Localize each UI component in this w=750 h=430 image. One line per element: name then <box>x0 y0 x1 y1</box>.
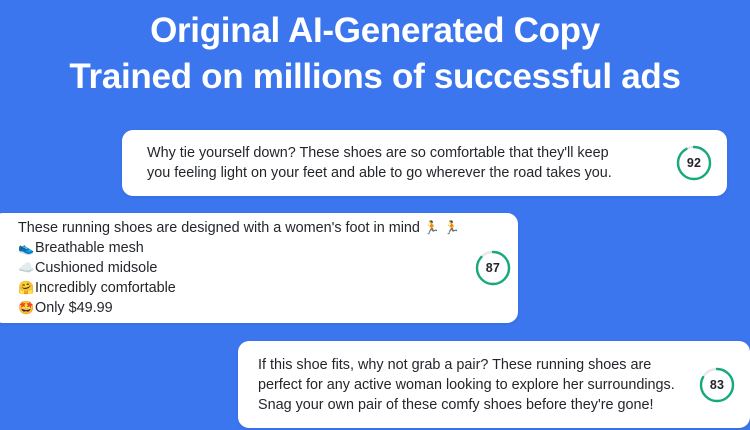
feature-bullet-label: Breathable mesh <box>35 240 144 256</box>
ad-copy-line: perfect for any active woman looking to … <box>258 375 684 395</box>
score-value: 87 <box>486 261 500 275</box>
feature-bullet-label: Cushioned midsole <box>35 260 157 276</box>
feature-bullet-label: Incredibly comfortable <box>35 280 176 296</box>
running-person-emoji: 🏃 🏃 <box>424 220 460 235</box>
feature-bullet: ☁️Cushioned midsole <box>18 258 460 278</box>
feature-bullet: 👟Breathable mesh <box>18 238 460 258</box>
page-title: Original AI-Generated Copy Trained on mi… <box>0 8 750 100</box>
ad-copy-headline: These running shoes are designed with a … <box>18 218 460 238</box>
hugging-face-emoji: 🤗 <box>18 278 35 298</box>
ad-copy-line: If this shoe fits, why not grab a pair? … <box>258 355 684 375</box>
score-badge: 92 <box>675 144 713 182</box>
feature-bullet-label: Only $49.99 <box>35 300 113 316</box>
score-value: 83 <box>710 378 724 392</box>
ad-copy-line: Snag your own pair of these comfy shoes … <box>258 395 684 415</box>
ad-copy-text: If this shoe fits, why not grab a pair? … <box>258 355 684 415</box>
star-struck-emoji: 🤩 <box>18 298 35 318</box>
feature-bullet: 🤩Only $49.99 <box>18 298 460 318</box>
running-shoe-emoji: 👟 <box>18 238 35 258</box>
score-value: 92 <box>687 156 701 170</box>
page-title-line-2: Trained on millions of successful ads <box>0 54 750 100</box>
score-badge: 83 <box>698 366 736 404</box>
ad-copy-card[interactable]: Why tie yourself down? These shoes are s… <box>122 130 727 196</box>
cloud-emoji: ☁️ <box>18 258 35 278</box>
ad-copy-line: Why tie yourself down? These shoes are s… <box>147 143 661 163</box>
score-badge: 87 <box>474 249 512 287</box>
ad-copy-headline-text: These running shoes are designed with a … <box>18 220 420 236</box>
feature-bullet: 🤗Incredibly comfortable <box>18 278 460 298</box>
ad-copy-card[interactable]: If this shoe fits, why not grab a pair? … <box>238 341 750 428</box>
page-root: Original AI-Generated Copy Trained on mi… <box>0 0 750 430</box>
ad-copy-line: you feeling light on your feet and able … <box>147 163 661 183</box>
ad-copy-text: Why tie yourself down? These shoes are s… <box>147 143 661 183</box>
ad-copy-text: These running shoes are designed with a … <box>18 218 460 318</box>
page-title-line-1: Original AI-Generated Copy <box>0 8 750 54</box>
ad-copy-card[interactable]: These running shoes are designed with a … <box>0 213 518 323</box>
